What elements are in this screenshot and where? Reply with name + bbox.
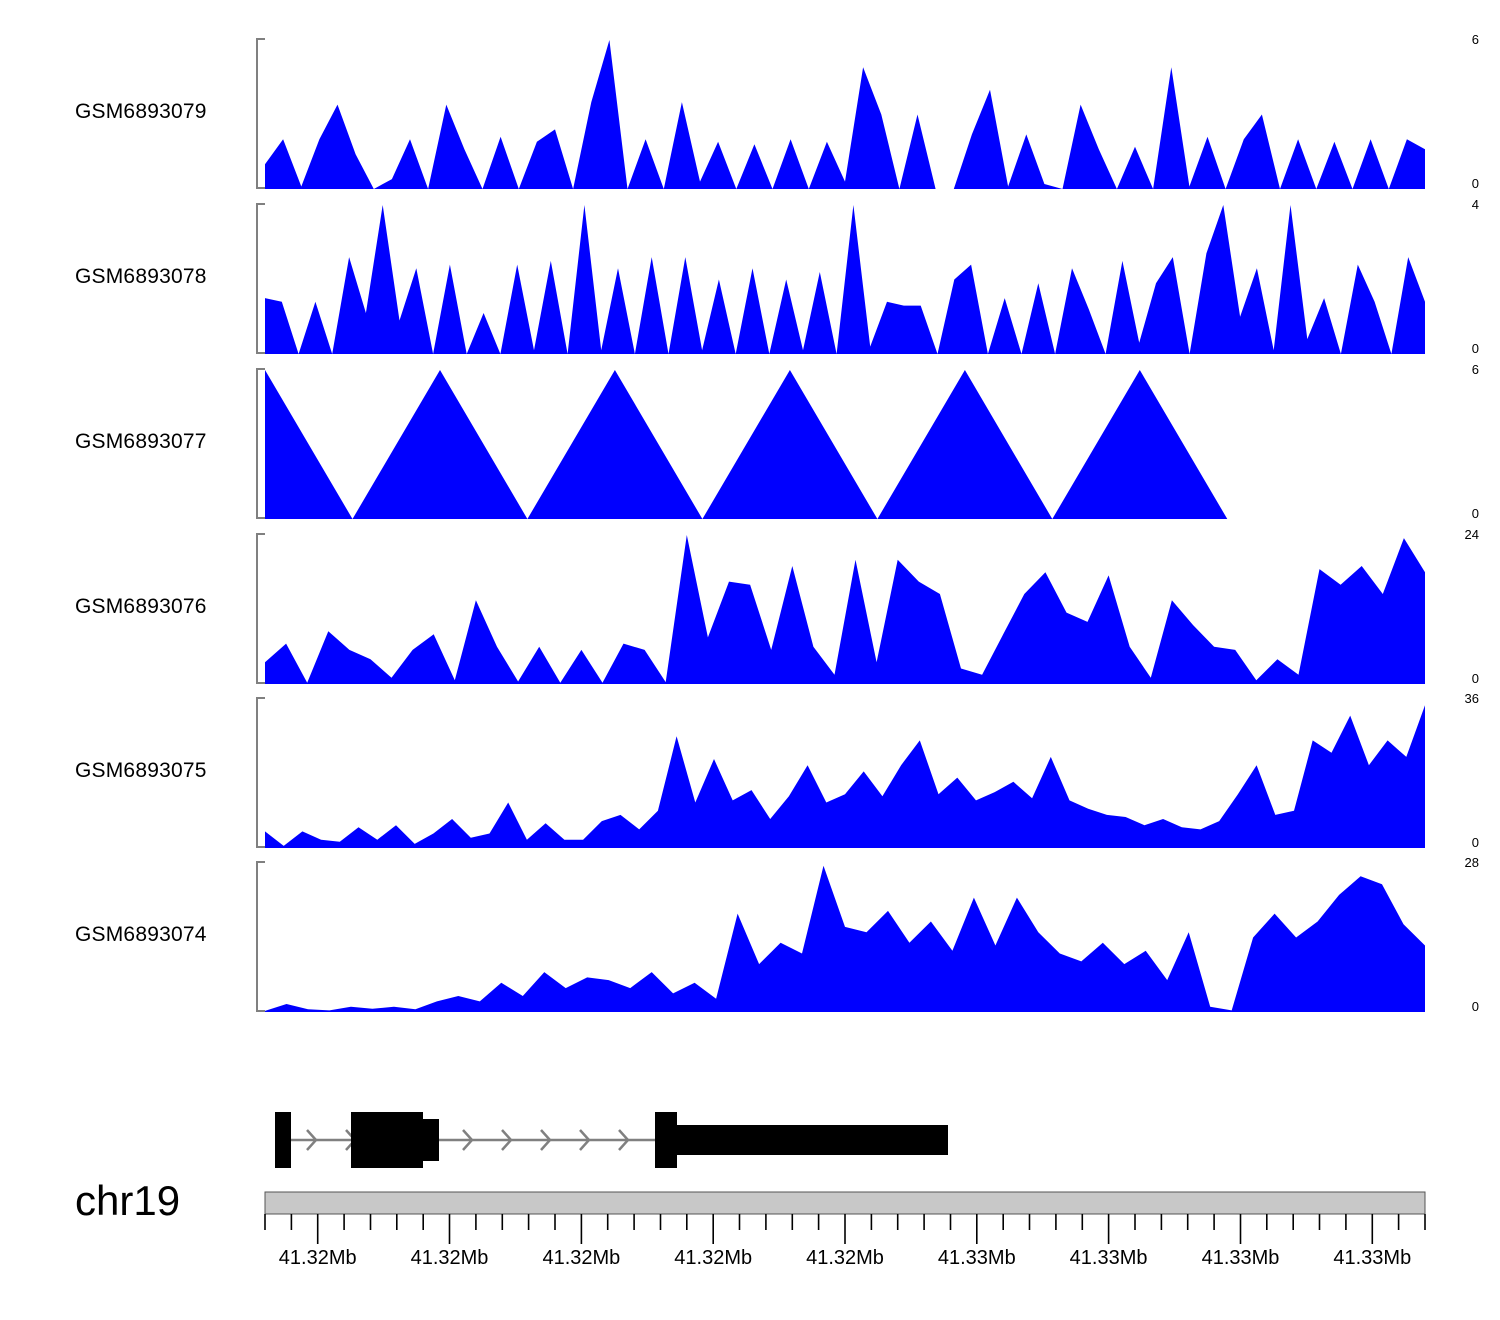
coverage-track: GSM689307840 <box>0 203 1500 354</box>
axis-tick-label: 41.33Mb <box>938 1247 1016 1269</box>
coverage-area-plot[interactable] <box>265 203 1425 354</box>
y-axis-max-label: 24 <box>1465 528 1479 541</box>
y-axis <box>247 697 267 848</box>
coverage-area <box>265 370 1315 519</box>
axis-tick-label: 41.33Mb <box>1202 1247 1280 1269</box>
axis-tick-label: 41.32Mb <box>674 1247 752 1269</box>
ideogram-bar[interactable] <box>265 1192 1425 1214</box>
y-axis-min-label: 0 <box>1472 1000 1479 1013</box>
y-axis <box>247 533 267 684</box>
axis-tick-label: 41.32Mb <box>411 1247 489 1269</box>
gene-model-track[interactable] <box>265 1098 1425 1182</box>
genome-browser: GSM689307960GSM689307840GSM689307760GSM6… <box>0 0 1500 1320</box>
exon-block[interactable] <box>423 1119 439 1161</box>
y-axis-min-label: 0 <box>1472 342 1479 355</box>
exon-block[interactable] <box>677 1125 948 1155</box>
exon-block[interactable] <box>351 1112 423 1168</box>
y-axis-max-label: 6 <box>1472 363 1479 376</box>
coverage-track: GSM6893074280 <box>0 861 1500 1012</box>
coverage-area-plot[interactable] <box>265 533 1425 684</box>
y-axis-min-label: 0 <box>1472 507 1479 520</box>
coverage-track: GSM689307760 <box>0 368 1500 519</box>
y-axis-max-label: 4 <box>1472 198 1479 211</box>
y-axis <box>247 861 267 1012</box>
axis-tick-label: 41.32Mb <box>279 1247 357 1269</box>
y-axis-min-label: 0 <box>1472 672 1479 685</box>
y-axis <box>247 368 267 519</box>
track-label-gsm6893079: GSM6893079 <box>75 100 255 124</box>
track-label-gsm6893077: GSM6893077 <box>75 430 255 454</box>
track-label-gsm6893076: GSM6893076 <box>75 595 255 619</box>
track-label-gsm6893075: GSM6893075 <box>75 759 255 783</box>
track-label-gsm6893078: GSM6893078 <box>75 265 255 289</box>
coverage-area <box>265 705 1425 848</box>
axis-tick-label: 41.33Mb <box>1070 1247 1148 1269</box>
coverage-area <box>265 205 1425 354</box>
exon-block[interactable] <box>655 1112 677 1168</box>
y-axis <box>247 38 267 189</box>
coverage-track: GSM6893076240 <box>0 533 1500 684</box>
coverage-area-plot[interactable] <box>265 697 1425 848</box>
coverage-area <box>265 535 1425 684</box>
coverage-track: GSM689307960 <box>0 38 1500 189</box>
y-axis <box>247 203 267 354</box>
y-axis-max-label: 28 <box>1465 856 1479 869</box>
y-axis-min-label: 0 <box>1472 836 1479 849</box>
coverage-track: GSM6893075360 <box>0 697 1500 848</box>
coverage-area-plot[interactable] <box>265 368 1425 519</box>
exon-block[interactable] <box>275 1112 291 1168</box>
axis-tick-label: 41.32Mb <box>542 1247 620 1269</box>
axis-tick-label: 41.33Mb <box>1333 1247 1411 1269</box>
chromosome-label: chr19 <box>75 1180 255 1222</box>
axis-tick-label: 41.32Mb <box>806 1247 884 1269</box>
coverage-area-plot[interactable] <box>265 861 1425 1012</box>
coverage-area-plot[interactable] <box>265 38 1425 189</box>
coverage-area <box>265 866 1425 1012</box>
genome-axis-ruler[interactable]: 41.32Mb41.32Mb41.32Mb41.32Mb41.32Mb41.33… <box>265 1192 1425 1312</box>
y-axis-max-label: 36 <box>1465 692 1479 705</box>
coverage-area <box>265 40 1425 189</box>
y-axis-min-label: 0 <box>1472 177 1479 190</box>
track-label-gsm6893074: GSM6893074 <box>75 923 255 947</box>
y-axis-max-label: 6 <box>1472 33 1479 46</box>
